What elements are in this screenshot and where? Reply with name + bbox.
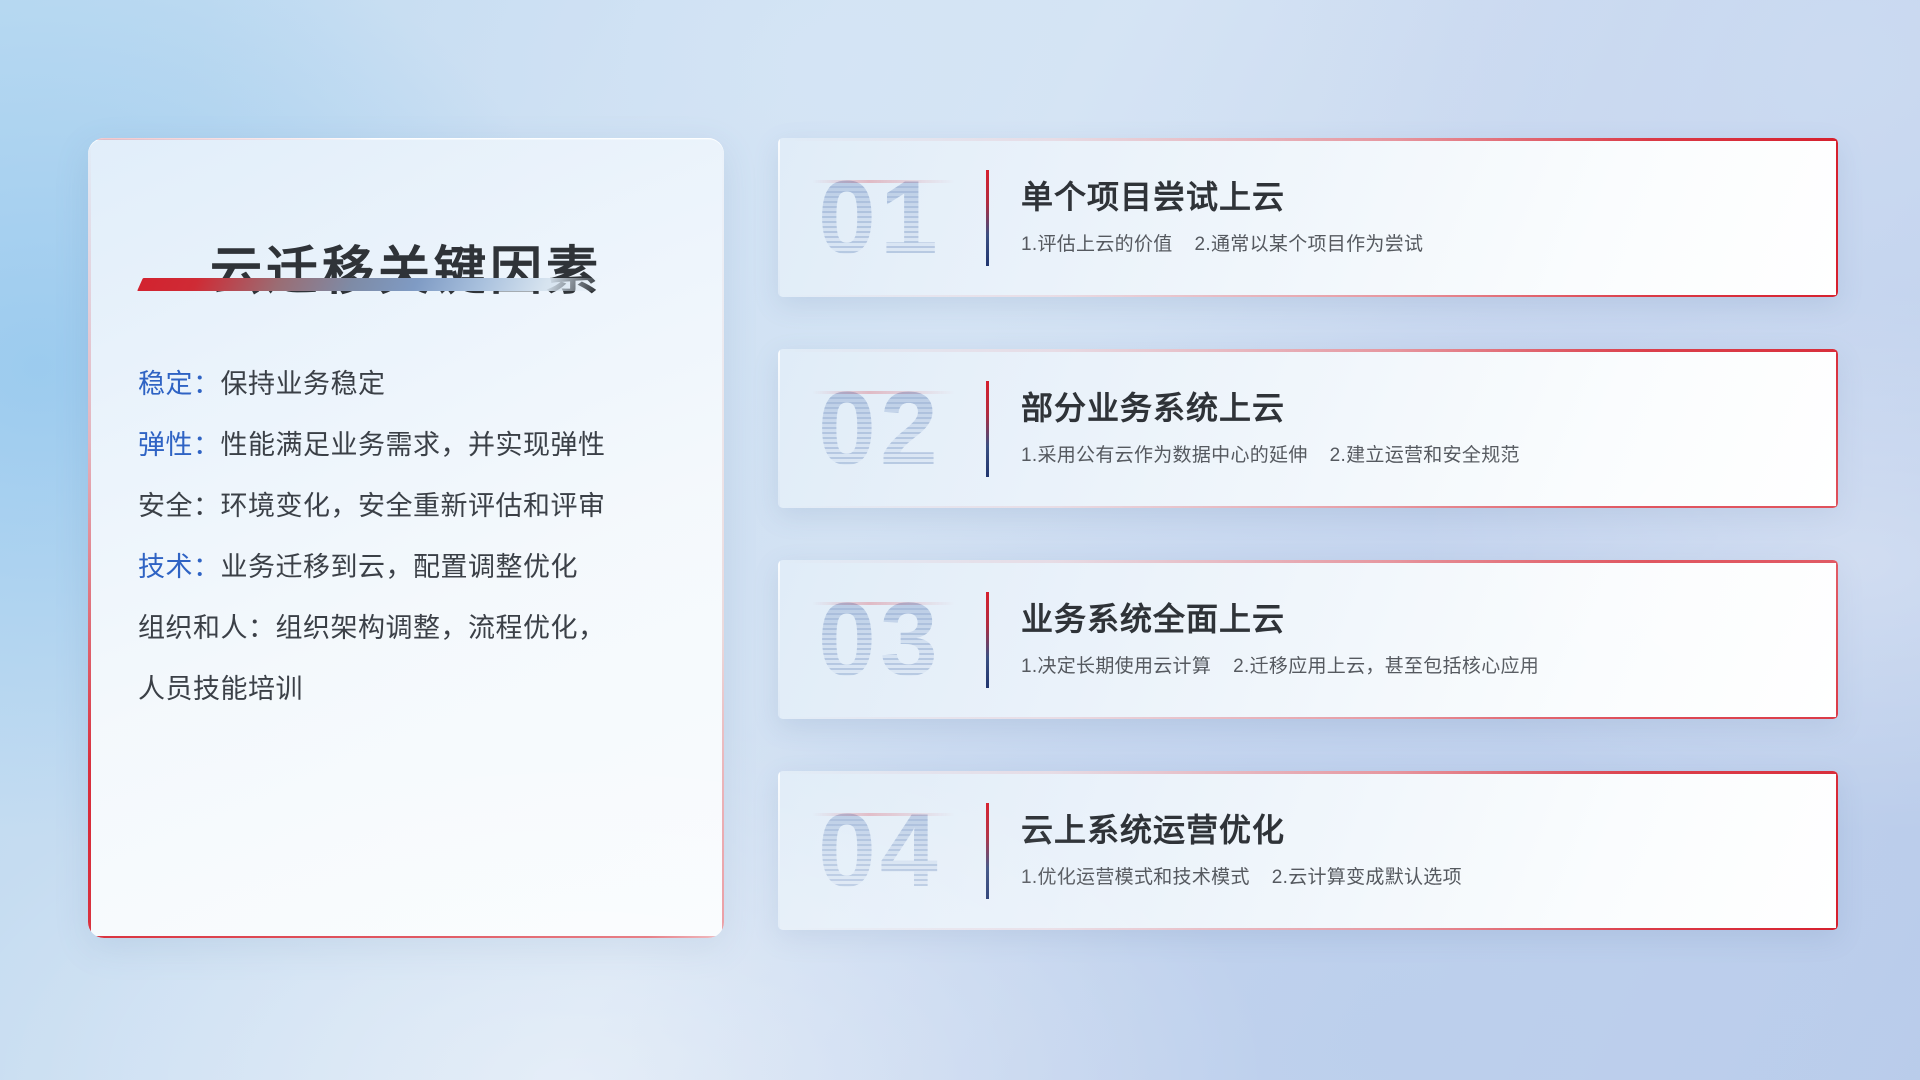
panel-border-bottom	[88, 936, 724, 939]
factor-key: 安全：	[138, 491, 221, 521]
card-border-bottom	[778, 928, 1838, 931]
step-number-watermark: 04	[818, 799, 942, 903]
step-point-2: 2.通常以某个项目作为尝试	[1195, 234, 1424, 255]
card-border-right	[1836, 138, 1839, 297]
card-border-left	[778, 560, 780, 719]
step-number-watermark: 01	[818, 166, 942, 270]
title-underline-rule	[137, 278, 603, 291]
card-border-right	[1836, 560, 1839, 719]
factor-value: 组织架构调整，流程优化，	[276, 613, 606, 643]
factor-key: 稳定：	[138, 369, 221, 399]
step-description: 1.优化运营模式和技术模式2.云计算变成默认选项	[1021, 862, 1802, 889]
step-divider-line	[986, 803, 989, 899]
card-border-left	[778, 771, 780, 930]
step-title: 单个项目尝试上云	[1021, 179, 1802, 216]
factor-value: 保持业务稳定	[221, 369, 386, 399]
card-border-bottom	[778, 295, 1838, 298]
step-point-2: 2.建立运营和安全规范	[1330, 445, 1520, 466]
step-body: 部分业务系统上云 1.采用公有云作为数据中心的延伸2.建立运营和安全规范	[1021, 390, 1802, 468]
step-point-1: 1.优化运营模式和技术模式	[1021, 867, 1250, 888]
factor-value: 业务迁移到云，配置调整优化	[221, 552, 579, 582]
step-divider-line	[986, 592, 989, 688]
card-border-bottom	[778, 506, 1838, 509]
step-description: 1.决定长期使用云计算2.迁移应用上云，甚至包括核心应用	[1021, 651, 1802, 678]
page-title: 云迁移关键因素	[88, 229, 724, 304]
key-factors-panel: 云迁移关键因素 稳定：保持业务稳定 弹性：性能满足业务需求，并实现弹性 安全：环…	[88, 138, 724, 938]
step-number-watermark: 03	[818, 588, 942, 692]
step-description: 1.采用公有云作为数据中心的延伸2.建立运营和安全规范	[1021, 440, 1802, 467]
factor-key: 弹性：	[138, 430, 221, 460]
card-border-top	[778, 138, 1838, 141]
step-point-1: 1.评估上云的价值	[1021, 234, 1173, 255]
factor-key: 组织和人：	[138, 613, 276, 643]
step-card-03[interactable]: 03 业务系统全面上云 1.决定长期使用云计算2.迁移应用上云，甚至包括核心应用	[778, 560, 1838, 719]
factor-value: 人员技能培训	[138, 674, 303, 704]
card-border-right	[1836, 349, 1839, 508]
step-title: 云上系统运营优化	[1021, 812, 1802, 849]
factor-item-technology: 技术：业务迁移到云，配置调整优化	[138, 537, 692, 598]
card-border-top	[778, 771, 1838, 774]
step-point-2: 2.云计算变成默认选项	[1272, 867, 1462, 888]
step-body: 云上系统运营优化 1.优化运营模式和技术模式2.云计算变成默认选项	[1021, 812, 1802, 890]
factor-item-elasticity: 弹性：性能满足业务需求，并实现弹性	[138, 415, 692, 476]
step-number-watermark: 02	[818, 377, 942, 481]
slide-canvas: 云迁移关键因素 稳定：保持业务稳定 弹性：性能满足业务需求，并实现弹性 安全：环…	[0, 0, 1920, 1080]
card-border-top	[778, 560, 1838, 563]
step-title: 部分业务系统上云	[1021, 390, 1802, 427]
factor-item-organization-cont: 人员技能培训	[138, 659, 692, 720]
card-border-top	[778, 349, 1838, 352]
step-card-04[interactable]: 04 云上系统运营优化 1.优化运营模式和技术模式2.云计算变成默认选项	[778, 771, 1838, 930]
factor-item-organization: 组织和人：组织架构调整，流程优化，	[138, 598, 692, 659]
step-body: 单个项目尝试上云 1.评估上云的价值2.通常以某个项目作为尝试	[1021, 179, 1802, 257]
migration-steps-list: 01 单个项目尝试上云 1.评估上云的价值2.通常以某个项目作为尝试 02 部分…	[778, 138, 1838, 982]
step-card-01[interactable]: 01 单个项目尝试上云 1.评估上云的价值2.通常以某个项目作为尝试	[778, 138, 1838, 297]
step-description: 1.评估上云的价值2.通常以某个项目作为尝试	[1021, 229, 1802, 256]
factor-item-security: 安全：环境变化，安全重新评估和评审	[138, 476, 692, 537]
step-body: 业务系统全面上云 1.决定长期使用云计算2.迁移应用上云，甚至包括核心应用	[1021, 601, 1802, 679]
factor-key: 技术：	[138, 552, 221, 582]
step-point-1: 1.采用公有云作为数据中心的延伸	[1021, 445, 1308, 466]
card-border-right	[1836, 771, 1839, 930]
step-divider-line	[986, 170, 989, 266]
step-divider-line	[986, 381, 989, 477]
card-border-left	[778, 349, 780, 508]
factor-value: 环境变化，安全重新评估和评审	[221, 491, 606, 521]
factor-item-stability: 稳定：保持业务稳定	[138, 354, 692, 415]
step-card-02[interactable]: 02 部分业务系统上云 1.采用公有云作为数据中心的延伸2.建立运营和安全规范	[778, 349, 1838, 508]
step-point-2: 2.迁移应用上云，甚至包括核心应用	[1233, 656, 1539, 677]
card-border-bottom	[778, 717, 1838, 720]
step-point-1: 1.决定长期使用云计算	[1021, 656, 1211, 677]
card-border-left	[778, 138, 780, 297]
factor-value: 性能满足业务需求，并实现弹性	[221, 430, 606, 460]
step-title: 业务系统全面上云	[1021, 601, 1802, 638]
factor-list: 稳定：保持业务稳定 弹性：性能满足业务需求，并实现弹性 安全：环境变化，安全重新…	[138, 354, 692, 720]
panel-border-top	[88, 138, 724, 140]
